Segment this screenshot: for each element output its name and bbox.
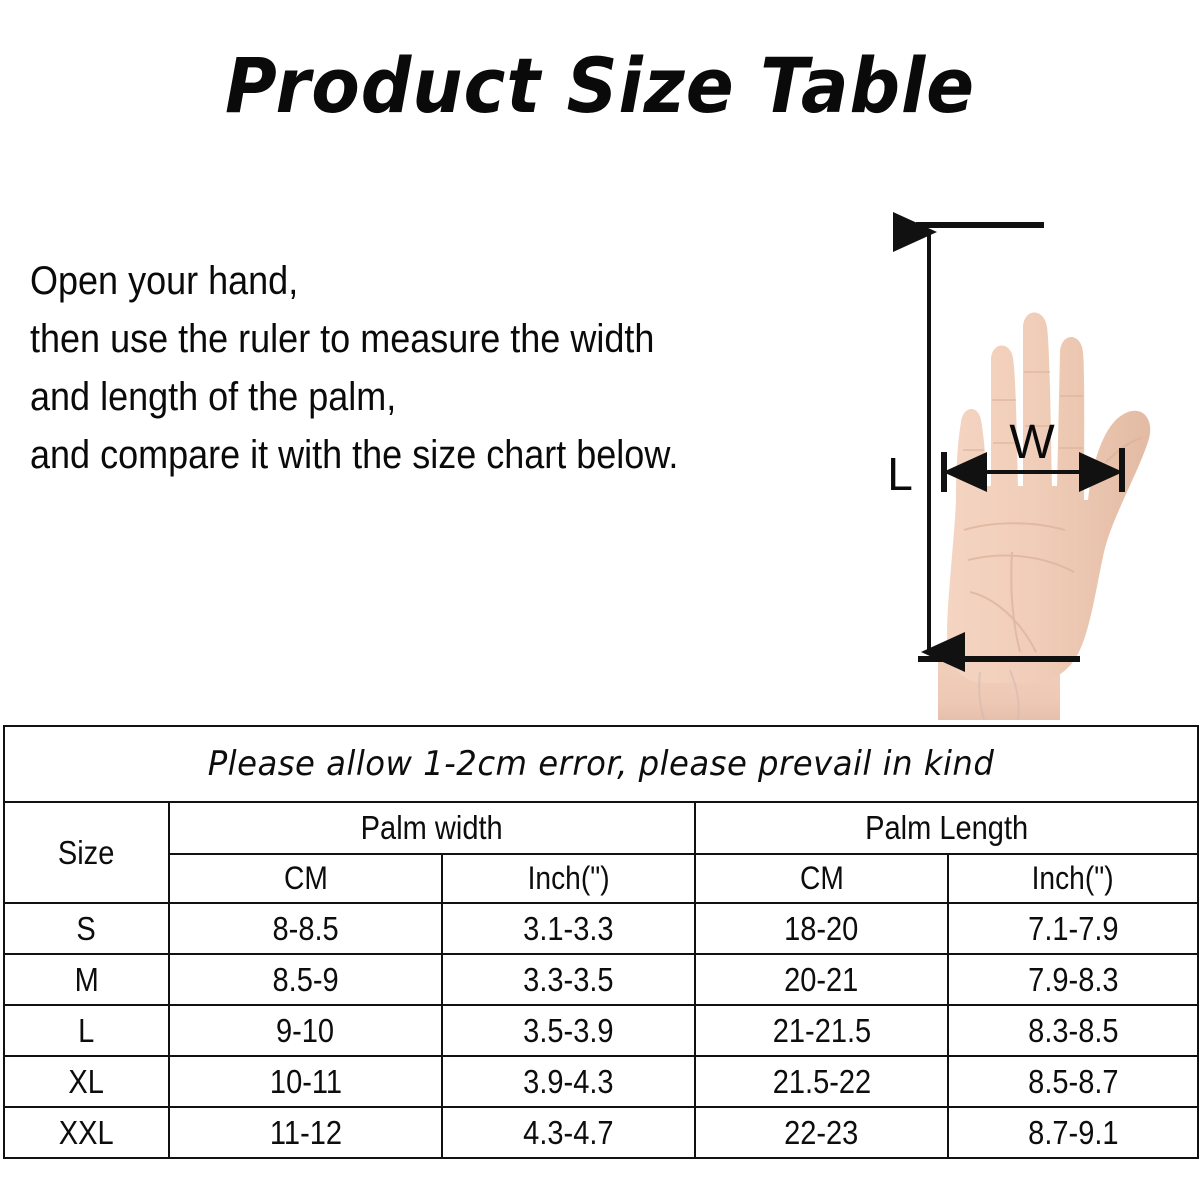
cell-size: XXL <box>4 1107 169 1158</box>
cell-length-inch: 8.5-8.7 <box>948 1056 1198 1107</box>
cell-length-inch: 7.1-7.9 <box>948 903 1198 954</box>
cell-length-inch: 8.3-8.5 <box>948 1005 1198 1056</box>
hand-measurement-diagram: L W <box>860 200 1200 720</box>
cell-size: S <box>4 903 169 954</box>
cell-length-inch: 8.7-9.1 <box>948 1107 1198 1158</box>
instruction-line-3: and length of the palm, <box>30 368 750 426</box>
cell-length-cm: 21.5-22 <box>695 1056 948 1107</box>
length-label: L <box>887 448 913 500</box>
table-note-row: Please allow 1-2cm error, please prevail… <box>4 726 1198 802</box>
cell-width-inch: 3.9-4.3 <box>442 1056 695 1107</box>
table-row: XXL 11-12 4.3-4.7 22-23 8.7-9.1 <box>4 1107 1198 1158</box>
table-row: S 8-8.5 3.1-3.3 18-20 7.1-7.9 <box>4 903 1198 954</box>
cell-width-inch: 3.3-3.5 <box>442 954 695 1005</box>
table-row: M 8.5-9 3.3-3.5 20-21 7.9-8.3 <box>4 954 1198 1005</box>
cell-size: XL <box>4 1056 169 1107</box>
cell-length-cm: 21-21.5 <box>695 1005 948 1056</box>
cell-size: L <box>4 1005 169 1056</box>
instruction-line-1: Open your hand, <box>30 252 750 310</box>
instructions-block: Open your hand, then use the ruler to me… <box>30 252 830 484</box>
instruction-line-4: and compare it with the size chart below… <box>30 426 750 484</box>
cell-width-cm: 8-8.5 <box>169 903 442 954</box>
table-unit-header-row: CM Inch(") CM Inch(") <box>4 854 1198 903</box>
instruction-line-2: then use the ruler to measure the width <box>30 310 750 368</box>
table-group-header-row: Size Palm width Palm Length <box>4 802 1198 854</box>
table-row: XL 10-11 3.9-4.3 21.5-22 8.5-8.7 <box>4 1056 1198 1107</box>
cell-length-inch: 7.9-8.3 <box>948 954 1198 1005</box>
header-width-inch: Inch(") <box>442 854 695 903</box>
cell-width-inch: 4.3-4.7 <box>442 1107 695 1158</box>
table-note-text: Please allow 1-2cm error, please prevail… <box>208 744 995 784</box>
cell-width-cm: 9-10 <box>169 1005 442 1056</box>
page-title: Product Size Table <box>42 48 1158 124</box>
cell-width-cm: 10-11 <box>169 1056 442 1107</box>
cell-size: M <box>4 954 169 1005</box>
width-label: W <box>1009 416 1055 469</box>
cell-length-cm: 22-23 <box>695 1107 948 1158</box>
header-palm-width: Palm width <box>169 802 695 854</box>
cell-width-inch: 3.1-3.3 <box>442 903 695 954</box>
cell-width-inch: 3.5-3.9 <box>442 1005 695 1056</box>
header-palm-length: Palm Length <box>695 802 1198 854</box>
header-length-inch: Inch(") <box>948 854 1198 903</box>
header-size: Size <box>4 802 169 903</box>
header-width-cm: CM <box>169 854 442 903</box>
header-length-cm: CM <box>695 854 948 903</box>
cell-width-cm: 8.5-9 <box>169 954 442 1005</box>
size-chart-table: Please allow 1-2cm error, please prevail… <box>3 725 1199 1159</box>
cell-length-cm: 18-20 <box>695 903 948 954</box>
cell-width-cm: 11-12 <box>169 1107 442 1158</box>
table-note-cell: Please allow 1-2cm error, please prevail… <box>4 726 1198 802</box>
cell-length-cm: 20-21 <box>695 954 948 1005</box>
table-row: L 9-10 3.5-3.9 21-21.5 8.3-8.5 <box>4 1005 1198 1056</box>
